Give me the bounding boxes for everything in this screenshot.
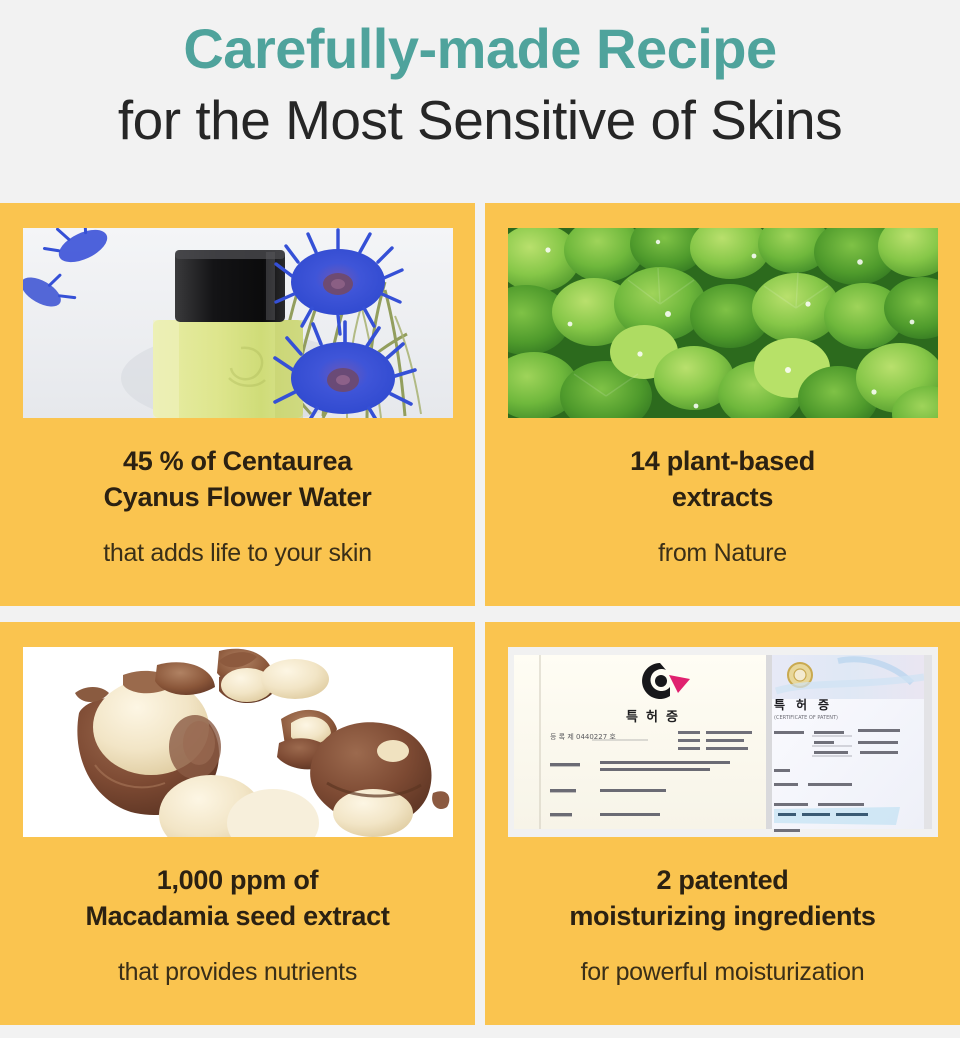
page-header: Carefully-made Recipe for the Most Sensi… [0, 0, 960, 203]
card-title-line-1: 45 % of Centaurea [123, 446, 352, 476]
card-subtitle: from Nature [658, 537, 787, 570]
cornflower-serum-bottle-photo [23, 228, 453, 418]
card-title-line-1: 1,000 ppm of [157, 865, 318, 895]
svg-text:허: 허 [646, 709, 658, 725]
feature-card-macadamia[interactable]: 1,000 ppm of Macadamia seed extract that… [0, 622, 475, 1025]
svg-text:특: 특 [626, 710, 638, 725]
card-title-line-2: moisturizing ingredients [569, 901, 875, 931]
page-title-secondary: for the Most Sensitive of Skins [118, 90, 842, 152]
patent-certificates-photo: 특허증 등 록 제 0440227 호 [508, 647, 938, 837]
svg-text:(CERTIFICATE OF PATENT): (CERTIFICATE OF PATENT) [774, 715, 838, 721]
card-title: 45 % of Centaurea Cyanus Flower Water [104, 444, 372, 515]
card-title: 1,000 ppm of Macadamia seed extract [85, 863, 389, 934]
feature-card-patents[interactable]: 특허증 등 록 제 0440227 호 [485, 622, 960, 1025]
card-subtitle: for powerful moisturization [581, 956, 865, 989]
card-title: 14 plant-based extracts [630, 444, 815, 515]
macadamia-nuts-photo [23, 647, 453, 837]
card-title-line-2: Macadamia seed extract [85, 901, 389, 931]
card-title-line-2: extracts [672, 482, 773, 512]
card-subtitle: that adds life to your skin [103, 537, 371, 570]
svg-text:허: 허 [796, 697, 807, 712]
card-title-line-1: 2 patented [656, 865, 788, 895]
svg-text:증: 증 [818, 698, 829, 712]
svg-text:특: 특 [774, 697, 785, 712]
svg-text:증: 증 [666, 710, 678, 725]
feature-card-centaurea[interactable]: 45 % of Centaurea Cyanus Flower Water th… [0, 203, 475, 606]
promotional-infographic: Carefully-made Recipe for the Most Sensi… [0, 0, 960, 1038]
card-subtitle: that provides nutrients [118, 956, 357, 989]
centella-leaves-photo [508, 228, 938, 418]
card-title-line-2: Cyanus Flower Water [104, 482, 372, 512]
page-title-primary: Carefully-made Recipe [183, 18, 776, 80]
feature-card-plant-extracts[interactable]: 14 plant-based extracts from Nature [485, 203, 960, 606]
card-title-line-1: 14 plant-based [630, 446, 815, 476]
feature-card-grid: 45 % of Centaurea Cyanus Flower Water th… [0, 203, 960, 1038]
card-title: 2 patented moisturizing ingredients [569, 863, 875, 934]
